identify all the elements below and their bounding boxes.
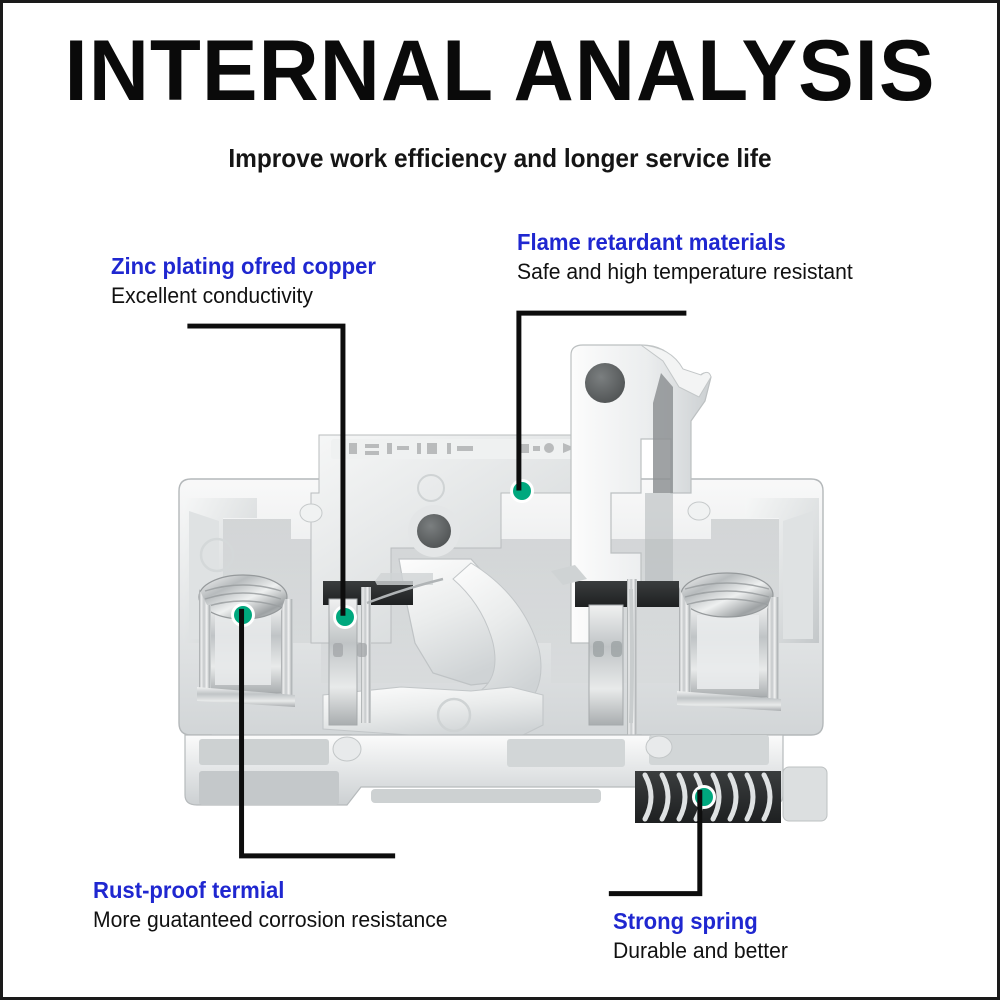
leader-lines xyxy=(3,3,997,997)
leader-line-flame xyxy=(519,313,684,488)
leader-line-zinc xyxy=(190,326,343,613)
infographic-page: INTERNAL ANALYSIS Improve work efficienc… xyxy=(0,0,1000,1000)
leader-line-spring xyxy=(611,792,699,893)
leader-line-rust xyxy=(242,611,393,856)
infographic-canvas: INTERNAL ANALYSIS Improve work efficienc… xyxy=(3,3,997,997)
